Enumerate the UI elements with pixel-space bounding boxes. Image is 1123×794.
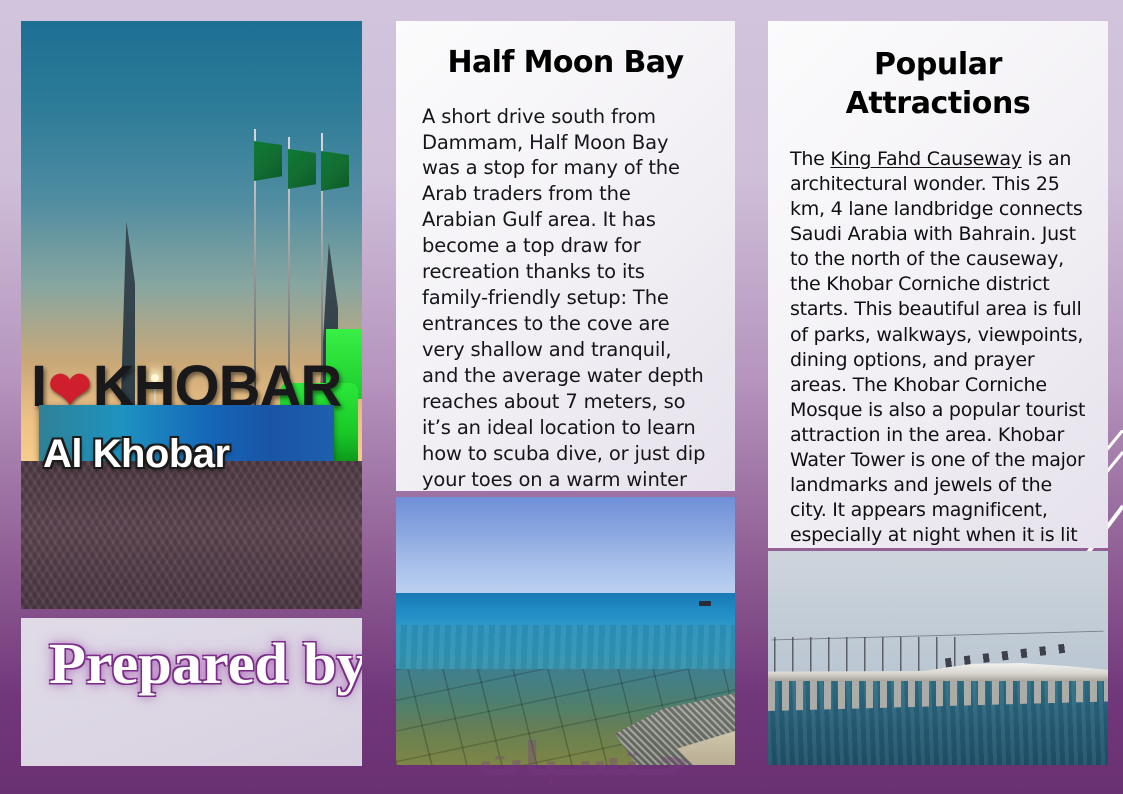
saudi-flag-1 — [254, 141, 282, 181]
half-moon-bay-card: Half Moon Bay A short drive south from D… — [396, 21, 735, 491]
paved-ground — [21, 461, 362, 609]
king-fahd-causeway-link[interactable]: King Fahd Causeway — [830, 148, 1021, 170]
half-moon-bay-title: Half Moon Bay — [422, 45, 709, 82]
king-fahd-causeway-bridge-photo — [768, 551, 1108, 765]
popular-attractions-title: Popular Attractions — [790, 45, 1086, 123]
boat-speck — [699, 601, 711, 606]
i-love-khobar-sign: I ❤ KHOBAR — [31, 343, 352, 413]
al-khobar-landmark-photo: I ❤ KHOBAR Al Khobar — [21, 21, 362, 609]
saudi-flag-2 — [288, 149, 316, 189]
half-moon-bay-coast-photo — [396, 497, 735, 765]
body-prefix: The — [790, 148, 830, 170]
body-rest: is an architectural wonder. This 25 km, … — [790, 148, 1085, 548]
title-line-2: Attractions — [846, 86, 1031, 121]
saudi-flag-3 — [321, 151, 349, 191]
photo-caption-al-khobar: Al Khobar — [43, 432, 230, 477]
far-sea-band — [396, 593, 735, 629]
half-moon-bay-body: A short drive south from Dammam, Half Mo… — [422, 104, 709, 491]
prepared-by-card: Prepared by — [21, 618, 362, 766]
sky — [396, 497, 735, 595]
prepared-by-label: Prepared by — [49, 634, 362, 695]
title-line-1: Popular — [874, 47, 1002, 82]
popular-attractions-card: Popular Attractions The King Fahd Causew… — [768, 21, 1108, 548]
popular-attractions-body: The King Fahd Causeway is an architectur… — [790, 147, 1086, 548]
light-poles — [774, 637, 961, 673]
